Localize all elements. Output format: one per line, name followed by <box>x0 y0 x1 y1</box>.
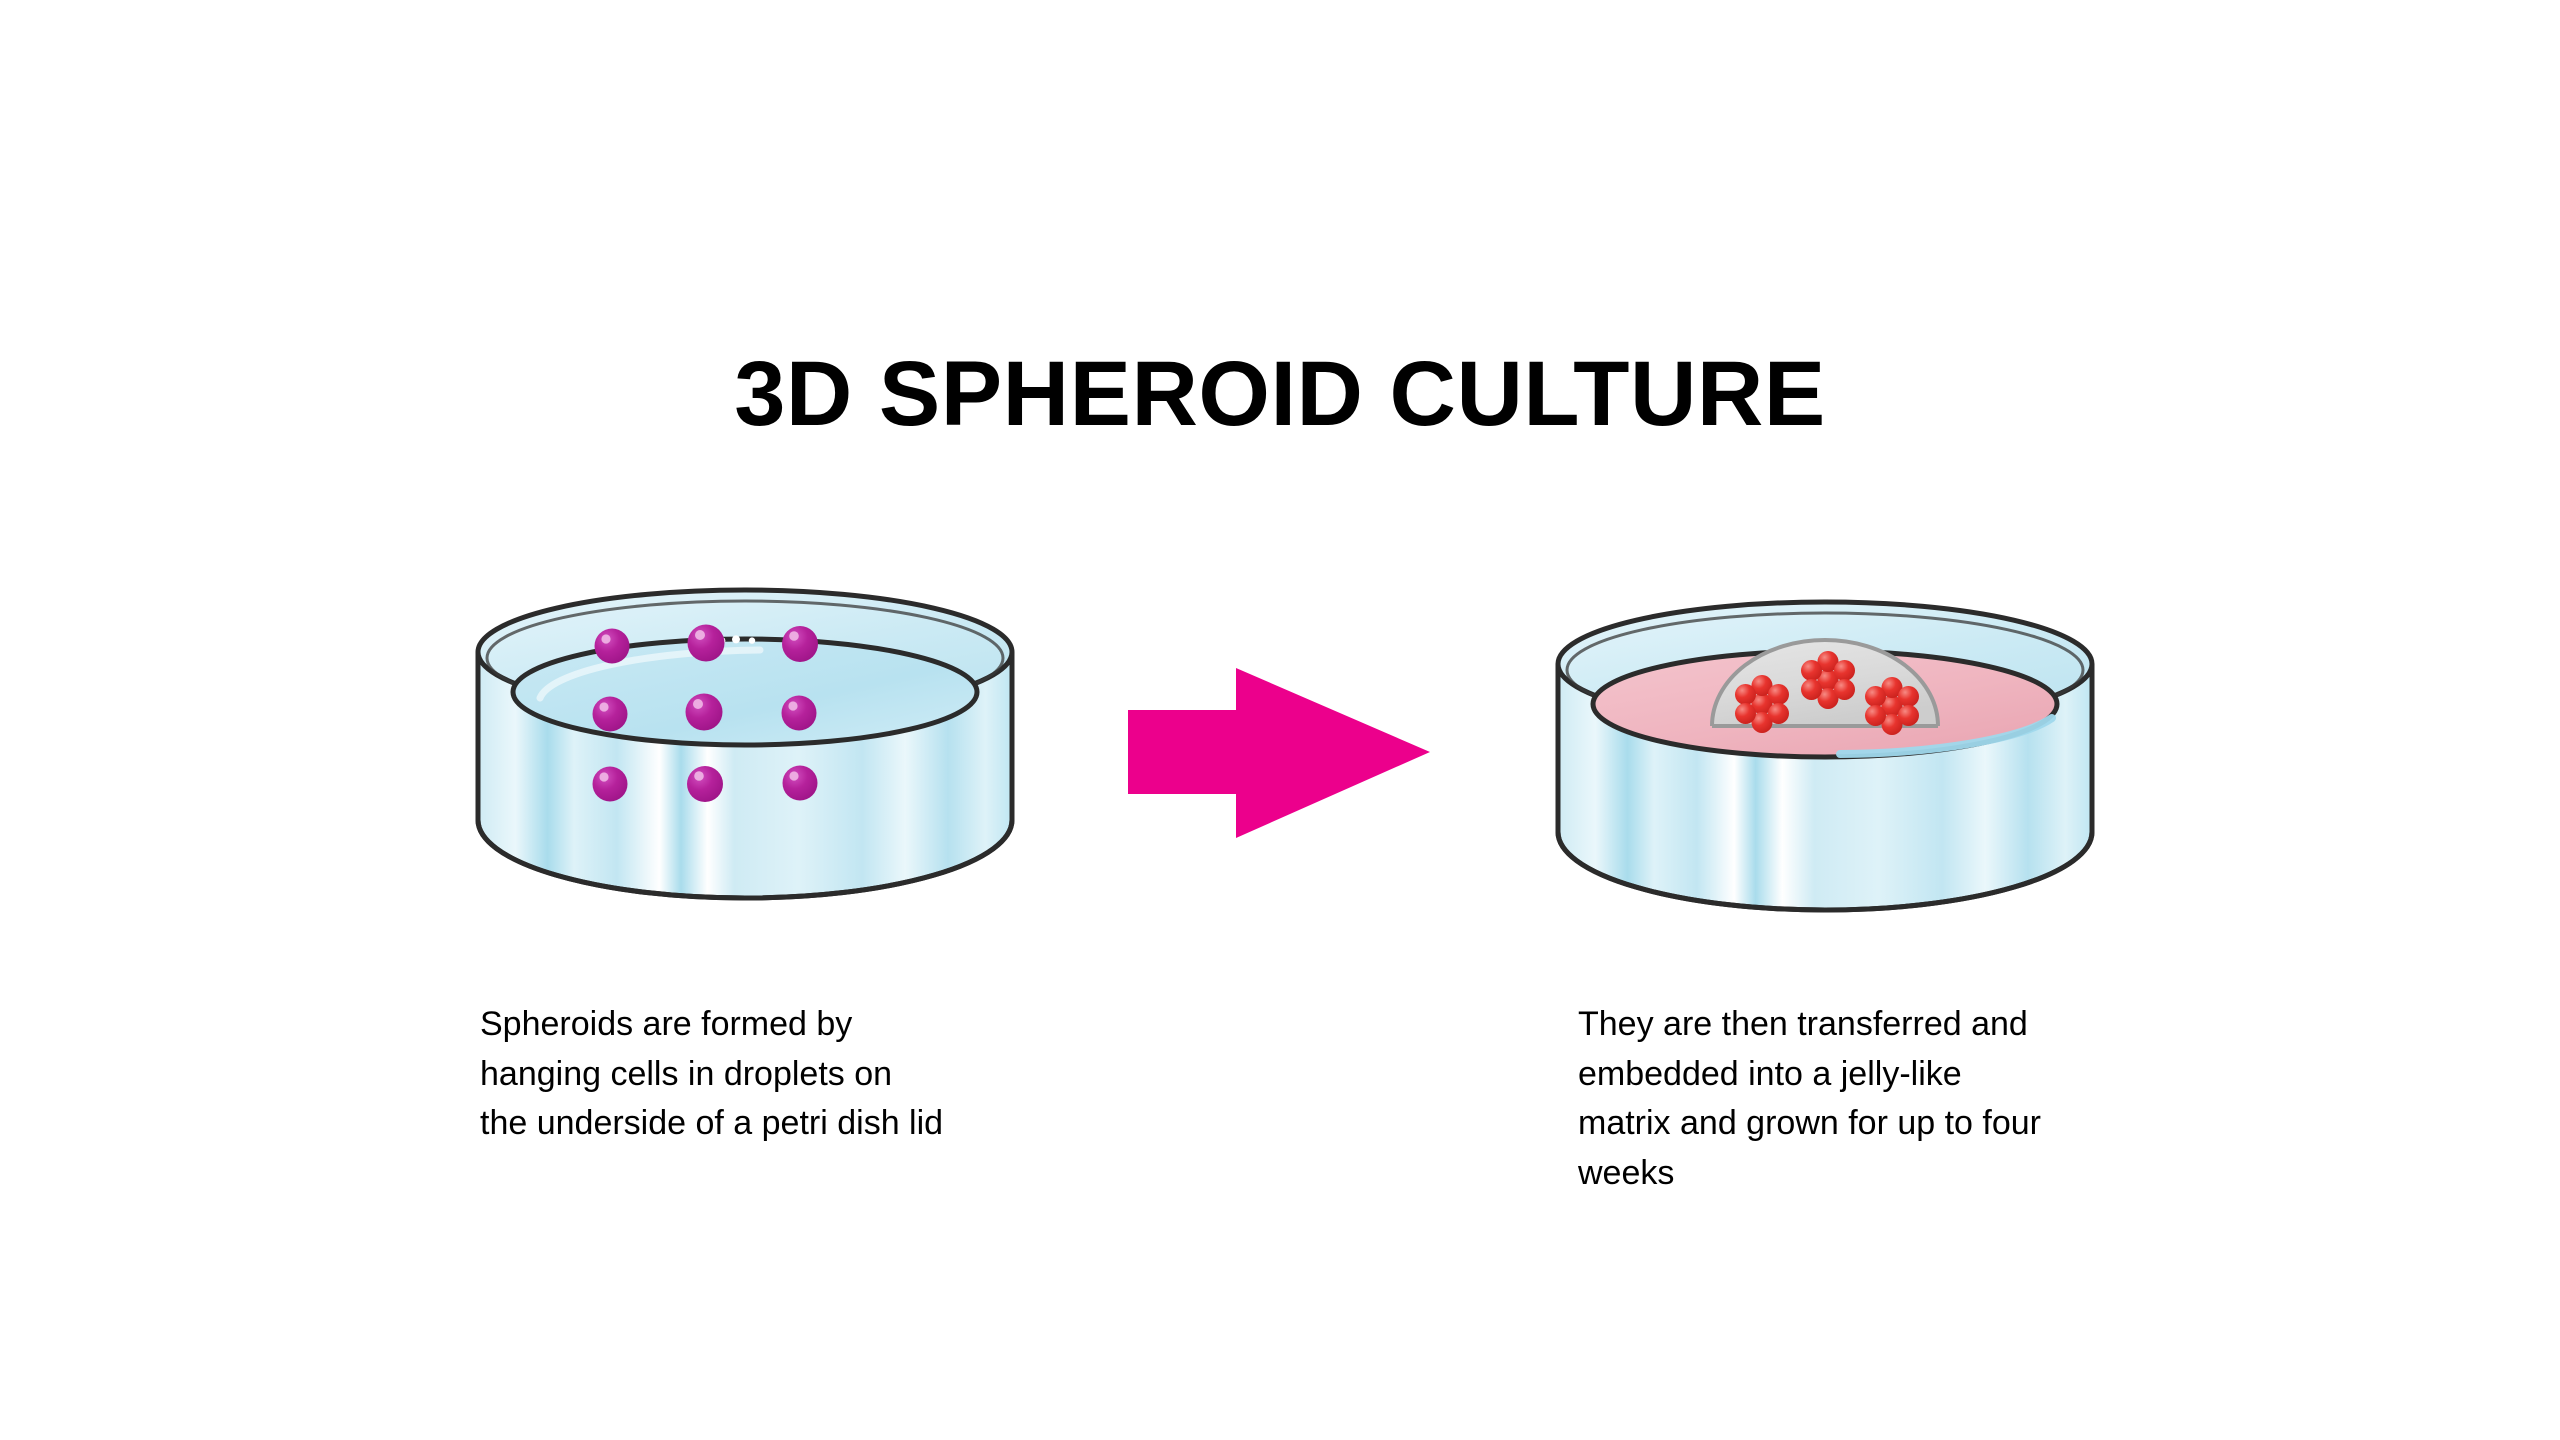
droplet <box>686 694 723 731</box>
droplet <box>782 696 817 731</box>
process-arrow <box>1128 668 1430 840</box>
droplet <box>687 766 723 802</box>
page-title: 3D SPHEROID CULTURE <box>0 348 2560 440</box>
droplet <box>593 767 628 802</box>
petri-dish-matrix-illustration <box>1540 600 2110 930</box>
petri-dish-lid-illustration <box>460 588 1030 918</box>
droplet <box>783 766 818 801</box>
droplet <box>782 626 818 662</box>
figure-embedded-matrix-dish <box>1540 600 2110 930</box>
figure-hanging-drop-dish <box>460 588 1030 918</box>
arrow-right-icon <box>1128 668 1430 840</box>
caption-hanging-drop: Spheroids are formed by hanging cells in… <box>480 1000 1100 1149</box>
droplet <box>688 625 725 662</box>
droplet <box>595 629 630 664</box>
caption-embedded-matrix: They are then transferred and embedded i… <box>1578 1000 2178 1199</box>
slide-canvas: 3D SPHEROID CULTURE <box>0 0 2560 1440</box>
droplet <box>593 697 628 732</box>
